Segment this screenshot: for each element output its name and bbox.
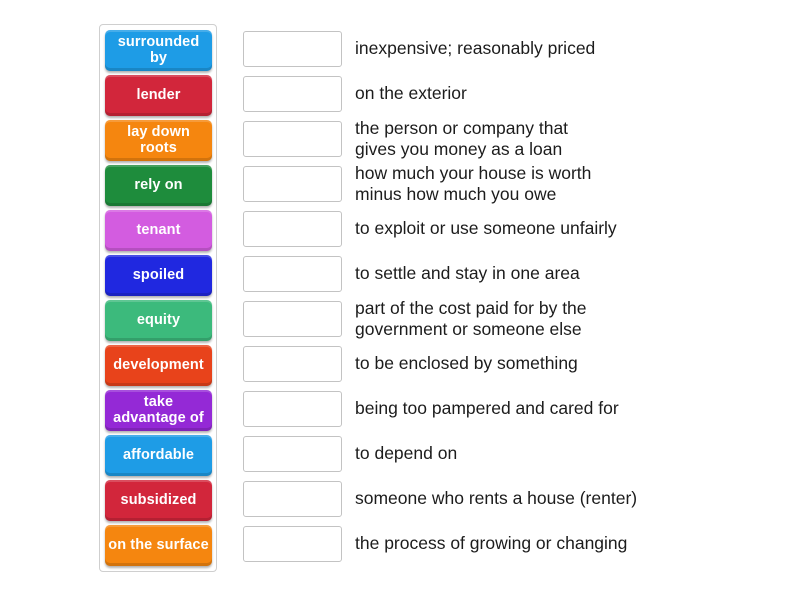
word-tile-label: lay down roots bbox=[108, 125, 209, 155]
definition-text: on the exterior bbox=[355, 83, 467, 105]
definition-text: to settle and stay in one area bbox=[355, 263, 580, 285]
word-tile[interactable]: subsidized bbox=[105, 480, 212, 521]
word-tile-label: equity bbox=[108, 313, 209, 328]
definition-text: the person or company that gives you mon… bbox=[355, 118, 568, 161]
answer-rows: inexpensive; reasonably pricedon the ext… bbox=[243, 31, 783, 571]
definition-text: inexpensive; reasonably priced bbox=[355, 38, 595, 60]
word-tile[interactable]: lay down roots bbox=[105, 120, 212, 161]
answer-row: to be enclosed by something bbox=[243, 346, 783, 382]
definition-text: the process of growing or changing bbox=[355, 533, 627, 555]
answer-row: someone who rents a house (renter) bbox=[243, 481, 783, 517]
answer-row: the person or company that gives you mon… bbox=[243, 121, 783, 157]
definition-text: how much your house is worth minus how m… bbox=[355, 163, 591, 206]
answer-dropzone[interactable] bbox=[243, 526, 342, 562]
word-tile[interactable]: affordable bbox=[105, 435, 212, 476]
definition-text: someone who rents a house (renter) bbox=[355, 488, 637, 510]
answer-row: being too pampered and cared for bbox=[243, 391, 783, 427]
answer-row: inexpensive; reasonably priced bbox=[243, 31, 783, 67]
answer-dropzone[interactable] bbox=[243, 166, 342, 202]
definition-text: to depend on bbox=[355, 443, 457, 465]
answer-dropzone[interactable] bbox=[243, 481, 342, 517]
word-tile-label: subsidized bbox=[108, 493, 209, 508]
answer-dropzone[interactable] bbox=[243, 121, 342, 157]
answer-dropzone[interactable] bbox=[243, 256, 342, 292]
word-tile[interactable]: rely on bbox=[105, 165, 212, 206]
word-tile-label: rely on bbox=[108, 178, 209, 193]
word-tile[interactable]: take advantage of bbox=[105, 390, 212, 431]
answer-dropzone[interactable] bbox=[243, 346, 342, 382]
word-tile[interactable]: surrounded by bbox=[105, 30, 212, 71]
word-tile-label: tenant bbox=[108, 223, 209, 238]
answer-row: part of the cost paid for by the governm… bbox=[243, 301, 783, 337]
word-tile[interactable]: development bbox=[105, 345, 212, 386]
answer-row: to exploit or use someone unfairly bbox=[243, 211, 783, 247]
definition-text: being too pampered and cared for bbox=[355, 398, 619, 420]
answer-dropzone[interactable] bbox=[243, 301, 342, 337]
word-tile-label: affordable bbox=[108, 448, 209, 463]
answer-row: how much your house is worth minus how m… bbox=[243, 166, 783, 202]
word-tile-label: surrounded by bbox=[108, 35, 209, 65]
word-tile[interactable]: lender bbox=[105, 75, 212, 116]
answer-dropzone[interactable] bbox=[243, 76, 342, 112]
answer-row: the process of growing or changing bbox=[243, 526, 783, 562]
answer-dropzone[interactable] bbox=[243, 211, 342, 247]
word-tile-label: take advantage of bbox=[108, 395, 209, 425]
answer-dropzone[interactable] bbox=[243, 391, 342, 427]
word-tile-label: lender bbox=[108, 88, 209, 103]
answer-dropzone[interactable] bbox=[243, 31, 342, 67]
answer-row: to depend on bbox=[243, 436, 783, 472]
word-tile-panel: surrounded bylenderlay down rootsrely on… bbox=[99, 24, 217, 572]
word-tile[interactable]: tenant bbox=[105, 210, 212, 251]
word-tile-label: on the surface bbox=[108, 538, 209, 553]
answer-row: on the exterior bbox=[243, 76, 783, 112]
definition-text: to exploit or use someone unfairly bbox=[355, 218, 617, 240]
answer-row: to settle and stay in one area bbox=[243, 256, 783, 292]
word-tile[interactable]: on the surface bbox=[105, 525, 212, 566]
answer-dropzone[interactable] bbox=[243, 436, 342, 472]
word-tile-label: spoiled bbox=[108, 268, 209, 283]
word-tile[interactable]: spoiled bbox=[105, 255, 212, 296]
definition-text: to be enclosed by something bbox=[355, 353, 578, 375]
word-tile-label: development bbox=[108, 358, 209, 373]
definition-text: part of the cost paid for by the governm… bbox=[355, 298, 587, 341]
word-tile[interactable]: equity bbox=[105, 300, 212, 341]
